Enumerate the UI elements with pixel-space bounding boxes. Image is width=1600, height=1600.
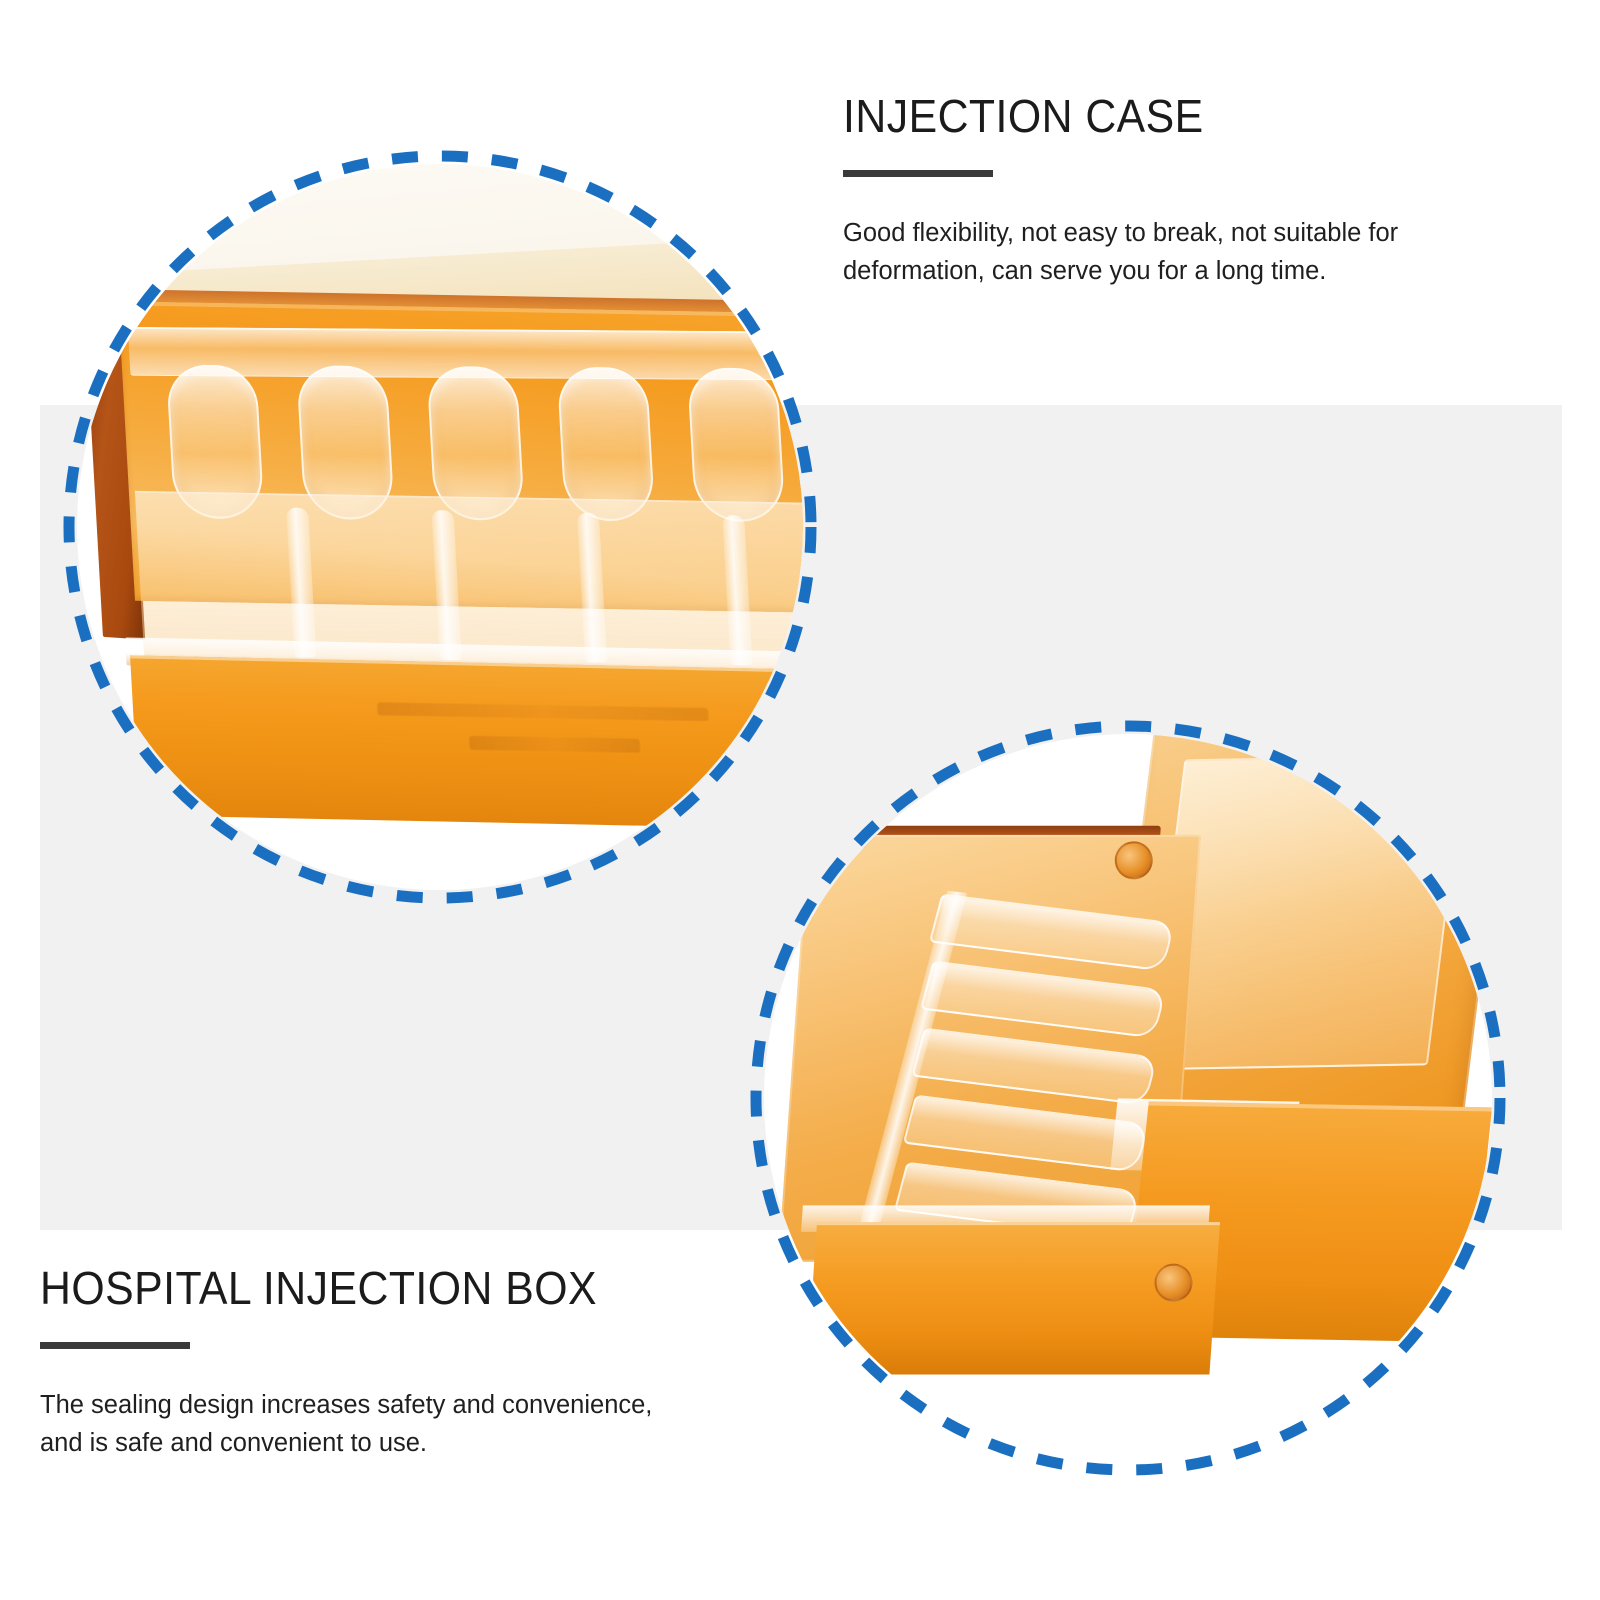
feature-block-injection-case: INJECTION CASE Good flexibility, not eas… <box>843 92 1483 290</box>
base-compartment <box>911 1028 1158 1106</box>
infographic-page: INJECTION CASE Good flexibility, not eas… <box>0 0 1600 1600</box>
photo-image-open-case <box>764 734 1492 1462</box>
heading-injection-case: INJECTION CASE <box>843 92 1438 140</box>
open-box-group <box>764 756 1492 1462</box>
product-render-closed-case <box>77 164 803 890</box>
case-embossed-text <box>377 698 762 775</box>
case-slot <box>687 367 786 522</box>
photo-plate <box>77 164 803 890</box>
base-front-face <box>806 1222 1220 1374</box>
case-body <box>83 241 803 839</box>
base-compartment <box>920 961 1167 1039</box>
body-hospital-injection-box: The sealing design increases safety and … <box>40 1387 670 1461</box>
tray-rib <box>722 515 752 665</box>
photo-image-closed-case <box>77 164 803 890</box>
heading-accent-rule <box>40 1342 190 1349</box>
base-compartment <box>929 893 1176 971</box>
heading-accent-rule <box>843 170 993 177</box>
box-base <box>778 835 1201 1262</box>
photo-plate <box>764 734 1492 1462</box>
heading-hospital-injection-box: HOSPITAL INJECTION BOX <box>40 1264 626 1312</box>
product-photo-closed-case[interactable] <box>61 148 819 906</box>
tray-rib <box>286 508 316 658</box>
tray-rib <box>431 510 461 660</box>
tray-rib <box>577 513 607 663</box>
body-injection-case: Good flexibility, not easy to break, not… <box>843 215 1483 289</box>
product-render-open-case <box>764 734 1492 1462</box>
product-photo-open-case[interactable] <box>748 718 1508 1478</box>
feature-block-hospital-injection-box: HOSPITAL INJECTION BOX The sealing desig… <box>40 1264 670 1462</box>
